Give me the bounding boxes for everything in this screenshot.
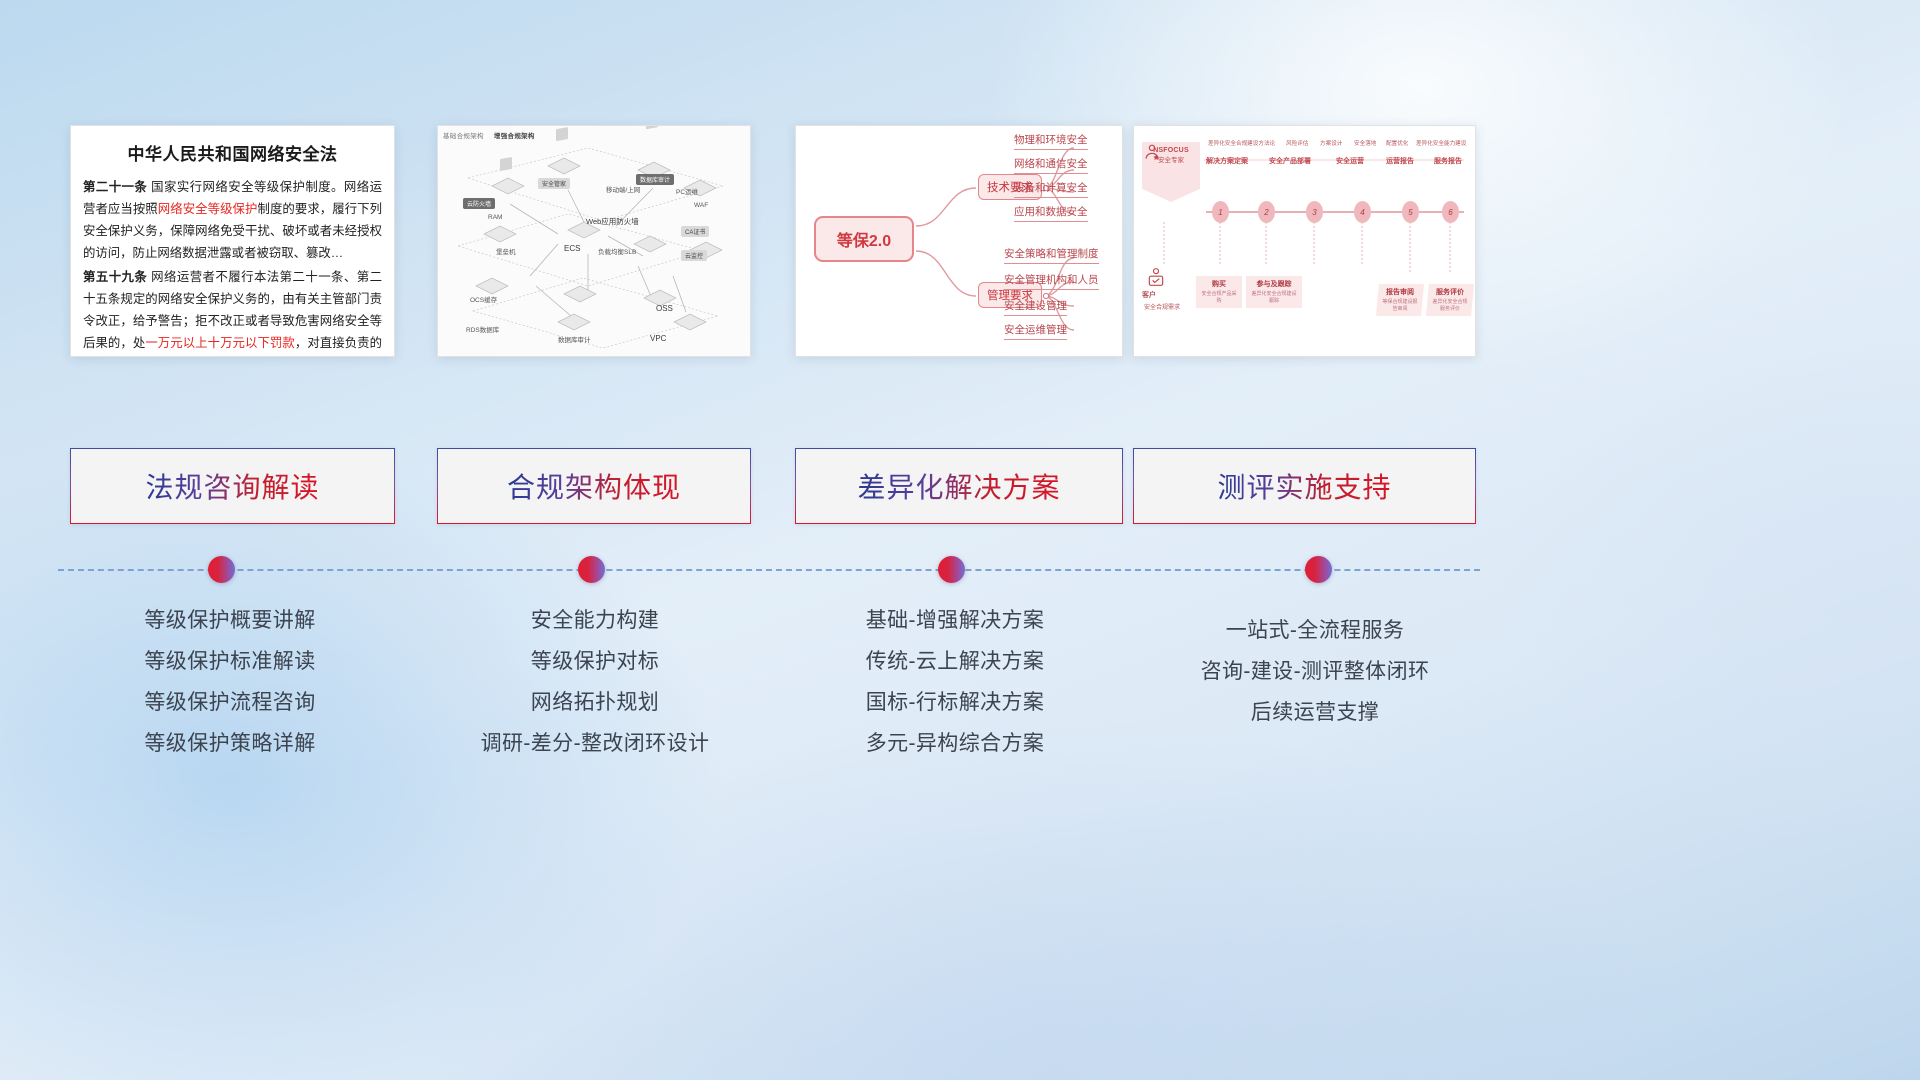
customer-person-icon <box>1146 266 1166 288</box>
customer-label: 客户 <box>1142 290 1156 300</box>
card-nsfocus-service-flow[interactable]: NSFOCUS 安全专家 差异化安全合规建设方法论 风险评估 方案设计 安全落地… <box>1133 125 1476 357</box>
service-flow-diagram: NSFOCUS 安全专家 差异化安全合规建设方法论 风险评估 方案设计 安全落地… <box>1134 126 1475 356</box>
list-item: 等级保护流程咨询 <box>60 682 400 723</box>
service-top-chip-3: 安全落地 <box>1354 139 1376 147</box>
service-bottom-card-3: 服务评价 差异化安全合规服务评价 <box>1426 284 1474 316</box>
service-top-chip-4: 配置优化 <box>1386 139 1408 147</box>
arch-node-security-butler: 安全管家 <box>538 178 570 189</box>
mindmap-leaf-network-comm: 网络和通信安全 <box>1014 156 1088 174</box>
list-item: 等级保护策略详解 <box>60 723 400 764</box>
arch-node-mobile: 移动端/上网 <box>606 184 640 194</box>
timeline-dot-3[interactable] <box>938 556 965 583</box>
law-article-59: 第五十九条 网络运营者不履行本法第二十一条、第二十五条规定的网络安全保护义务的，… <box>83 266 382 357</box>
service-step-3: 3 <box>1306 201 1323 223</box>
mindmap-leaf-device-compute: 设备和计算安全 <box>1014 180 1088 198</box>
mindmap-leaf-physical-env: 物理和环境安全 <box>1014 132 1088 150</box>
service-top-chip-5: 差异化安全能力建设 <box>1416 139 1466 147</box>
architecture-lines <box>438 126 751 357</box>
article-59-label: 第五十九条 <box>83 270 147 284</box>
service-top-chip-0: 差异化安全合规建设方法论 <box>1208 139 1275 147</box>
article-21-label: 第二十一条 <box>83 180 147 194</box>
detail-column-1: 等级保护概要讲解 等级保护标准解读 等级保护流程咨询 等级保护策略详解 <box>60 600 400 764</box>
reference-cards-row: 中华人民共和国网络安全法 第二十一条 国家实行网络安全等级保护制度。网络运营者应… <box>0 125 1920 360</box>
service-step-4: 4 <box>1354 201 1371 223</box>
bottom-card-2-desc: 等保合规建设报告审阅 <box>1381 298 1419 312</box>
list-item: 等级保护标准解读 <box>60 641 400 682</box>
service-header-0: 解决方案定案 <box>1206 156 1248 166</box>
service-bottom-card-2: 报告审阅 等保合规建设报告审阅 <box>1376 284 1424 316</box>
mindmap-leaf-org-personnel: 安全管理机构和人员 <box>1004 272 1099 290</box>
customer-subtitle: 安全合规需求 <box>1134 302 1190 311</box>
article-21-highlight: 网络安全等级保护 <box>158 202 258 216</box>
list-item: 多元-异构综合方案 <box>785 723 1125 764</box>
section-label-box-2[interactable]: 合规架构体现 <box>437 448 751 524</box>
arch-node-cloud-monitor: 云监控 <box>681 250 707 261</box>
bottom-card-3-title: 服务评价 <box>1431 287 1469 297</box>
service-top-chip-2: 方案设计 <box>1320 139 1342 147</box>
detail-column-4: 一站式-全流程服务 咨询-建设-测评整体闭环 后续运营支撑 <box>1140 610 1490 733</box>
timeline-dot-1[interactable] <box>208 556 235 583</box>
architecture-diagram: 基础合规架构 增强合规架构 <box>438 126 750 356</box>
section-label-box-4[interactable]: 测评实施支持 <box>1133 448 1476 524</box>
list-item: 国标-行标解决方案 <box>785 682 1125 723</box>
mindmap-root-node: 等保2.0 <box>814 216 914 262</box>
card-dengbao-mindmap[interactable]: 等保2.0 技术要求 管理要求 物理和环境安全 网络和通信安全 设备和计算安全 … <box>795 125 1123 357</box>
section-label-box-1[interactable]: 法规咨询解读 <box>70 448 395 524</box>
timeline-dot-4[interactable] <box>1305 556 1332 583</box>
bottom-card-0-desc: 安全合规产品采购 <box>1201 290 1237 304</box>
section-label-box-3[interactable]: 差异化解决方案 <box>795 448 1123 524</box>
article-59-highlight-1: 一万元以上十万元以下罚款 <box>145 336 295 350</box>
section-label-text-2: 合规架构体现 <box>507 466 681 506</box>
bottom-card-3-desc: 差异化安全合规服务评价 <box>1431 298 1469 312</box>
list-item: 调研-差分-整改闭环设计 <box>425 723 765 764</box>
service-step-2: 2 <box>1258 201 1275 223</box>
timeline-dot-2[interactable] <box>578 556 605 583</box>
arch-node-bastion: 堡垒机 <box>496 246 516 256</box>
service-top-chip-1: 风险评估 <box>1286 139 1308 147</box>
arch-node-cloud-firewall: 云防火墙 <box>463 198 495 209</box>
list-item: 咨询-建设-测评整体闭环 <box>1140 651 1490 692</box>
timeline <box>0 548 1920 608</box>
arch-node-vpc: VPC <box>650 334 666 343</box>
list-item: 一站式-全流程服务 <box>1140 610 1490 651</box>
arch-node-db-audit: 数据库审计 <box>636 174 674 185</box>
timeline-dashed-line <box>58 569 1480 571</box>
arch-node-waf: WAF <box>694 202 708 209</box>
arch-node-web-waf: Web应用防火墙 <box>586 216 639 227</box>
bottom-card-1-desc: 差异化安全合规建设跟踪 <box>1251 290 1297 304</box>
mindmap-diagram: 等保2.0 技术要求 管理要求 物理和环境安全 网络和通信安全 设备和计算安全 … <box>796 126 1122 356</box>
detail-column-2: 安全能力构建 等级保护对标 网络拓扑规划 调研-差分-整改闭环设计 <box>425 600 765 764</box>
list-item: 网络拓扑规划 <box>425 682 765 723</box>
service-header-2: 安全运营 <box>1336 156 1364 166</box>
list-item: 等级保护概要讲解 <box>60 600 400 641</box>
service-header-4: 服务报告 <box>1434 156 1462 166</box>
law-title: 中华人民共和国网络安全法 <box>71 140 394 165</box>
section-label-text-3: 差异化解决方案 <box>857 466 1060 506</box>
expert-person-icon <box>1142 142 1162 162</box>
card-compliance-architecture[interactable]: 基础合规架构 增强合规架构 <box>437 125 751 357</box>
detail-column-3: 基础-增强解决方案 传统-云上解决方案 国标-行标解决方案 多元-异构综合方案 <box>785 600 1125 764</box>
arch-node-oss: OSS <box>656 304 673 313</box>
service-header-3: 运营报告 <box>1386 156 1414 166</box>
arch-node-data-audit: 数据库审计 <box>558 334 591 344</box>
mindmap-leaf-app-data: 应用和数据安全 <box>1014 204 1088 222</box>
mindmap-leaf-operations: 安全运维管理 <box>1004 322 1067 340</box>
service-bottom-card-1: 参与及跟踪 差异化安全合规建设跟踪 <box>1246 276 1302 308</box>
arch-node-slb: 负载均衡SLB <box>598 246 636 256</box>
arch-node-ca-cert: CA证书 <box>681 226 709 237</box>
list-item: 基础-增强解决方案 <box>785 600 1125 641</box>
arch-node-ocs: OCS缓存 <box>470 294 497 304</box>
list-item: 后续运营支撑 <box>1140 692 1490 733</box>
card-cybersecurity-law[interactable]: 中华人民共和国网络安全法 第二十一条 国家实行网络安全等级保护制度。网络运营者应… <box>70 125 395 357</box>
service-bottom-card-0: 购买 安全合规产品采购 <box>1196 276 1242 308</box>
mindmap-leaf-construction: 安全建设管理 <box>1004 298 1067 316</box>
bottom-card-0-title: 购买 <box>1201 279 1237 289</box>
law-article-21: 第二十一条 国家实行网络安全等级保护制度。网络运营者应当按照网络安全等级保护制度… <box>83 176 382 264</box>
arch-node-pc-ops: PC运维 <box>676 186 698 196</box>
list-item: 安全能力构建 <box>425 600 765 641</box>
law-body: 第二十一条 国家实行网络安全等级保护制度。网络运营者应当按照网络安全等级保护制度… <box>71 176 394 357</box>
service-step-1: 1 <box>1212 201 1229 223</box>
section-label-text-1: 法规咨询解读 <box>145 466 319 506</box>
arch-node-rds: RDS数据库 <box>466 324 499 334</box>
arch-node-ram: RAM <box>488 214 502 221</box>
bottom-card-1-title: 参与及跟踪 <box>1251 279 1297 289</box>
service-step-5: 5 <box>1402 201 1419 223</box>
section-label-row: 法规咨询解读 合规架构体现 差异化解决方案 测评实施支持 <box>0 448 1920 524</box>
bottom-card-2-title: 报告审阅 <box>1381 287 1419 297</box>
service-header-1: 安全产品部署 <box>1269 156 1311 166</box>
arch-node-ecs: ECS <box>564 244 580 253</box>
section-label-text-4: 测评实施支持 <box>1217 466 1391 506</box>
list-item: 等级保护对标 <box>425 641 765 682</box>
service-step-6: 6 <box>1442 201 1459 223</box>
mindmap-leaf-policy-system: 安全策略和管理制度 <box>1004 246 1099 264</box>
list-item: 传统-云上解决方案 <box>785 641 1125 682</box>
